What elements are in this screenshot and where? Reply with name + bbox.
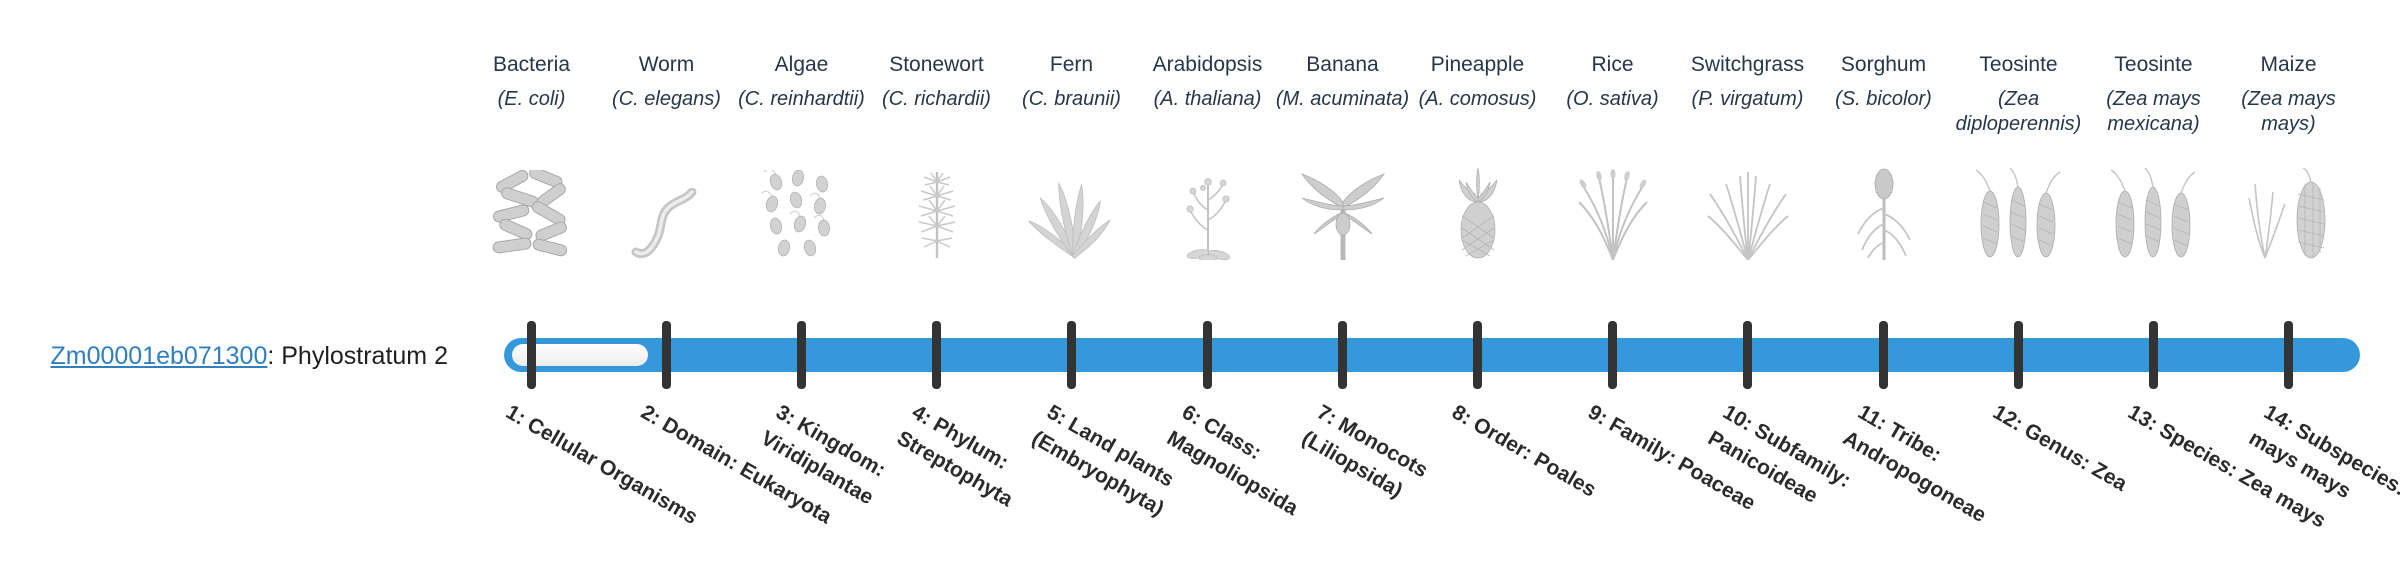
gene-id-link[interactable]: Zm00001eb071300: [51, 342, 268, 370]
worm-icon: [599, 168, 734, 260]
phylostratum-name: Phylum: Streptophyta: [893, 413, 1017, 511]
phylostratum-tick-9: [1608, 321, 1617, 389]
phylostratum-label-6: 6: Class: Magnoliopsida: [1161, 398, 1390, 565]
phylostratum-tick-8: [1473, 321, 1482, 389]
phylostratum-tick-4: [932, 321, 941, 389]
phylostratum-tick-1: [527, 321, 536, 389]
phylostratum-label-12: 12: Genus: Zea: [1987, 398, 2201, 539]
species-latin-name: (O. sativa): [1545, 87, 1680, 112]
species-common-name: Teosinte: [2086, 52, 2221, 78]
algae-icon: [734, 168, 869, 260]
species-latin-name: (S. bicolor): [1816, 87, 1951, 112]
phylostratum-number: 5:: [1043, 401, 1076, 433]
phylostratum-name: Class: Magnoliopsida: [1163, 413, 1302, 520]
species-header-5: Fern(C. braunii): [1004, 52, 1139, 112]
species-latin-name: (C. elegans): [599, 87, 734, 112]
species-latin-name: (M. acuminata): [1275, 87, 1410, 112]
species-common-name: Maize: [2221, 52, 2356, 78]
stonewort-icon: [869, 168, 1004, 260]
species-header-7: Banana(M. acuminata): [1275, 52, 1410, 112]
phylostratum-name: Domain: Eukaryota: [658, 413, 835, 529]
gene-phylostratum-text: : Phylostratum 2: [267, 342, 448, 370]
fern-icon: [1004, 168, 1139, 260]
species-common-name: Teosinte: [1951, 52, 2086, 78]
phylostratum-name: Order: Poales: [1470, 413, 1601, 502]
species-latin-name: (Zea mays mays): [2221, 87, 2356, 137]
bacteria-icon: [464, 168, 599, 260]
phylostratum-label-13: 13: Species: Zea mays: [2122, 398, 2336, 539]
phylostratum-tick-12: [2014, 321, 2023, 389]
phylostratum-tick-11: [1879, 321, 1888, 389]
pineapple-icon: [1410, 168, 1545, 260]
species-latin-name: (C. richardii): [869, 87, 1004, 112]
phylostratum-number: 13:: [2124, 401, 2167, 439]
phylostratum-name: Land plants (Embryophyta): [1028, 413, 1178, 521]
species-header-3: Algae(C. reinhardtii): [734, 52, 869, 112]
phylostratum-bar-filled: [504, 338, 2360, 372]
species-header-11: Sorghum(S. bicolor): [1816, 52, 1951, 112]
phylostratum-number: 12:: [1989, 401, 2032, 439]
phylostratum-tick-13: [2149, 321, 2158, 389]
species-header-4: Stonewort(C. richardii): [869, 52, 1004, 112]
phylostratum-tick-14: [2284, 321, 2293, 389]
species-common-name: Fern: [1004, 52, 1139, 78]
phylostratum-tick-2: [662, 321, 671, 389]
phylostratum-name: Family: Poaceae: [1605, 413, 1759, 515]
species-common-name: Rice: [1545, 52, 1680, 78]
phylostratum-tick-6: [1203, 321, 1212, 389]
species-header-12: Teosinte(Zea diploperennis): [1951, 52, 2086, 137]
phylostratum-number: 7:: [1313, 401, 1346, 433]
phylostratum-name: Kingdom: Viridiplantae: [757, 413, 890, 509]
phylostratum-tick-10: [1743, 321, 1752, 389]
phylostratum-name: Cellular Organisms: [523, 413, 701, 529]
gene-phylostratum-label: Zm00001eb071300: Phylostratum 2: [0, 341, 460, 371]
phylostratum-name: Tribe: Andropogoneae: [1839, 418, 1990, 527]
phylostratum-number: 10:: [1719, 401, 1762, 439]
species-header-10: Switchgrass(P. virgatum): [1680, 52, 1815, 112]
phylostratum-label-8: 8: Order: Poales: [1446, 398, 1660, 539]
species-common-name: Banana: [1275, 52, 1410, 78]
species-latin-name: (A. thaliana): [1140, 87, 1275, 112]
species-latin-name: (C. braunii): [1004, 87, 1139, 112]
species-common-name: Worm: [599, 52, 734, 78]
phylostratum-number: 1:: [502, 401, 535, 433]
phylostratum-label-1: 1: Cellular Organisms: [500, 398, 714, 539]
phylostratum-name: Genus: Zea: [2021, 419, 2132, 496]
phylostratum-label-9: 9: Family: Poaceae: [1582, 398, 1796, 539]
species-latin-name: (Zea diploperennis): [1951, 87, 2086, 137]
species-common-name: Bacteria: [464, 52, 599, 78]
phylostratum-label-10: 10: Subfamily: Panicoideae: [1702, 398, 1931, 565]
arabidopsis-icon: [1140, 168, 1275, 260]
species-latin-name: (A. comosus): [1410, 87, 1545, 112]
teosinte-icon: [1951, 168, 2086, 260]
species-common-name: Stonewort: [869, 52, 1004, 78]
phylostratum-number: 3:: [772, 401, 805, 433]
species-header-13: Teosinte(Zea mays mexicana): [2086, 52, 2221, 137]
phylostratum-number: 11:: [1854, 401, 1896, 438]
species-common-name: Switchgrass: [1680, 52, 1815, 78]
phylostratum-number: 14:: [2260, 401, 2303, 439]
phylostratum-name: Species: Zea mays: [2156, 419, 2330, 533]
phylostratum-number: 8:: [1448, 401, 1481, 433]
species-latin-name: (Zea mays mexicana): [2086, 87, 2221, 137]
phylostratum-name: Subspecies: Zea mays mays: [2245, 419, 2400, 522]
phylostratum-label-11: 11: Tribe: Andropogoneae: [1837, 398, 2066, 565]
phylostratum-tick-3: [797, 321, 806, 389]
banana-icon: [1275, 168, 1410, 260]
sorghum-icon: [1816, 168, 1951, 260]
phylostratum-label-14: 14: Subspecies: Zea mays mays: [2243, 398, 2400, 565]
species-common-name: Sorghum: [1816, 52, 1951, 78]
species-header-1: Bacteria(E. coli): [464, 52, 599, 112]
species-latin-name: (P. virgatum): [1680, 87, 1815, 112]
species-header-14: Maize(Zea mays mays): [2221, 52, 2356, 137]
phylostratum-tick-5: [1067, 321, 1076, 389]
phylostratum-name: Subfamily: Panicoideae: [1704, 419, 1855, 508]
phylostratum-chart: Zm00001eb071300: Phylostratum 2 Bacteria…: [0, 0, 2400, 580]
phylostratum-label-4: 4: Phylum: Streptophyta: [891, 398, 1120, 565]
maize-icon: [2221, 168, 2356, 260]
phylostratum-label-7: 7: Monocots (Liliopsida): [1296, 398, 1525, 565]
teosinte-icon: [2086, 168, 2221, 260]
species-latin-name: (C. reinhardtii): [734, 87, 869, 112]
switchgrass-icon: [1680, 168, 1815, 260]
phylostratum-number: 6:: [1178, 401, 1211, 433]
phylostratum-number: 9:: [1584, 401, 1617, 433]
species-header-2: Worm(C. elegans): [599, 52, 734, 112]
phylostratum-number: 4:: [908, 401, 941, 433]
phylostratum-number: 2:: [637, 401, 670, 433]
species-common-name: Pineapple: [1410, 52, 1545, 78]
species-header-9: Rice(O. sativa): [1545, 52, 1680, 112]
species-header-8: Pineapple(A. comosus): [1410, 52, 1545, 112]
phylostratum-tick-7: [1338, 321, 1347, 389]
species-latin-name: (E. coli): [464, 87, 599, 112]
phylostratum-label-2: 2: Domain: Eukaryota: [635, 398, 849, 539]
species-common-name: Algae: [734, 52, 869, 78]
phylostratum-name: Monocots (Liliopsida): [1298, 413, 1432, 503]
species-header-6: Arabidopsis(A. thaliana): [1140, 52, 1275, 112]
species-common-name: Arabidopsis: [1140, 52, 1275, 78]
rice-icon: [1545, 168, 1680, 260]
phylostratum-label-5: 5: Land plants (Embryophyta): [1026, 398, 1255, 565]
phylostratum-label-3: 3: Kingdom: Viridiplantae: [755, 398, 984, 565]
